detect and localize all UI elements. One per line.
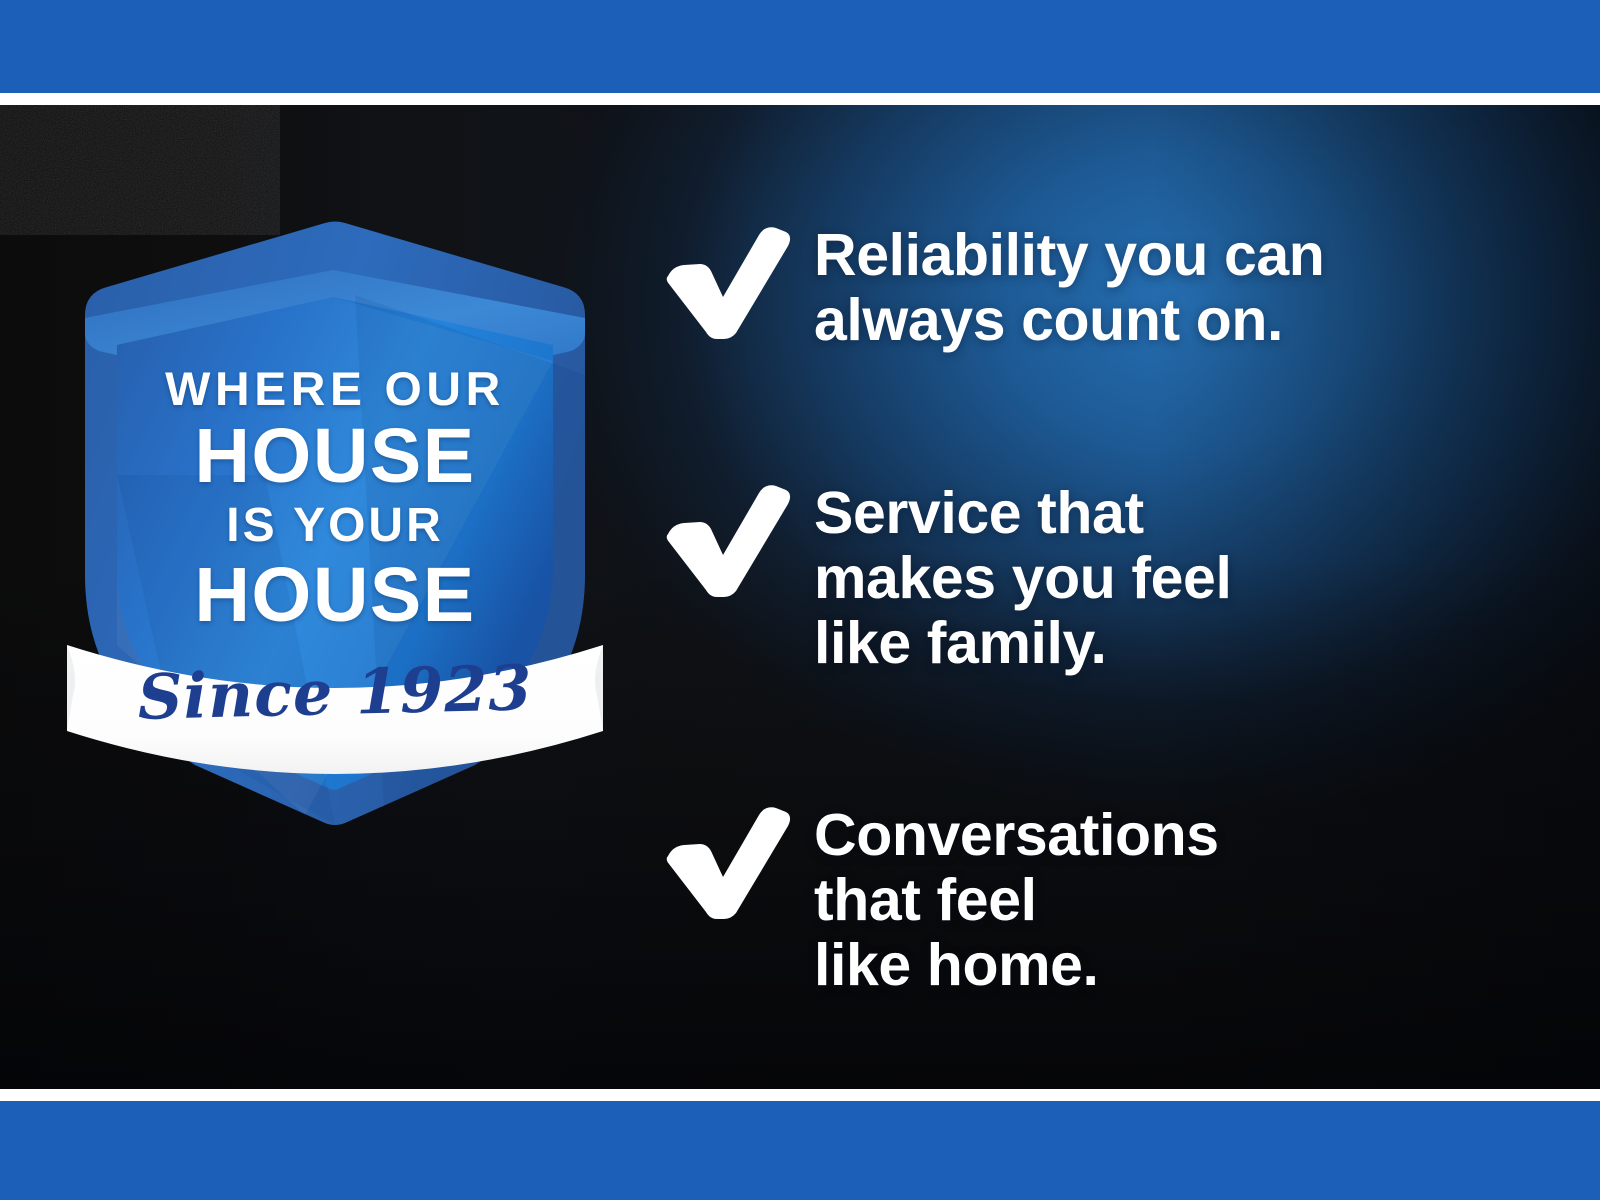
checkmark-icon — [660, 221, 792, 339]
top-white-divider — [0, 93, 1600, 105]
bottom-brand-bar — [0, 1101, 1600, 1200]
benefit-item-3: Conversations that feel like home. — [660, 795, 1219, 998]
top-brand-bar — [0, 0, 1600, 93]
checkmark-icon — [660, 479, 792, 597]
benefit-text-2: Service that makes you feel like family. — [814, 481, 1231, 676]
checkmark-icon — [660, 801, 792, 919]
bottom-white-divider — [0, 1089, 1600, 1101]
benefit-text-1: Reliability you can always count on. — [814, 223, 1324, 353]
benefit-item-2: Service that makes you feel like family. — [660, 473, 1231, 676]
shield-badge: Where Our House Is Your House Since 1923 — [55, 175, 615, 825]
benefit-item-1: Reliability you can always count on. — [660, 215, 1324, 353]
promo-graphic: Where Our House Is Your House Since 1923… — [0, 0, 1600, 1200]
benefits-list: Reliability you can always count on. Ser… — [660, 105, 1540, 1089]
benefit-text-3: Conversations that feel like home. — [814, 803, 1219, 998]
